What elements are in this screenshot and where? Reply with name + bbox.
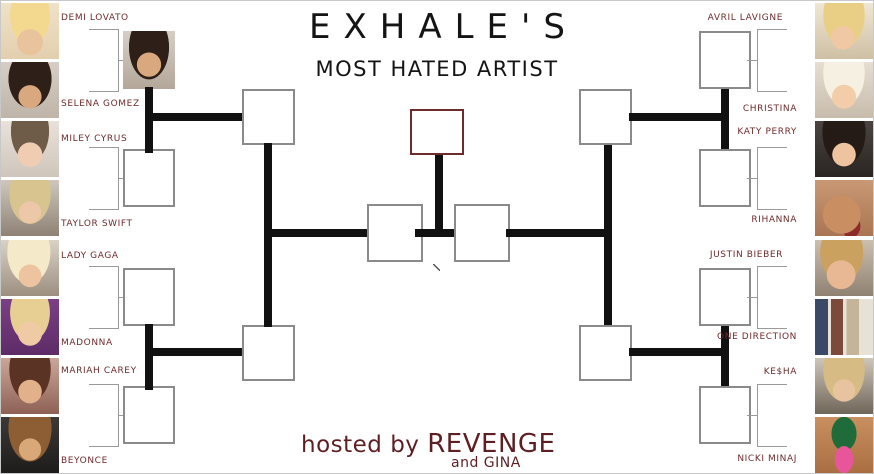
photo-rihanna	[815, 180, 873, 236]
photo-madonna	[1, 299, 59, 355]
r1-connector-right-4	[757, 384, 787, 447]
r3-slot-right-top[interactable]	[579, 89, 632, 145]
label-miley-cyrus: MILEY CYRUS	[61, 134, 127, 144]
r1-connector-right-2	[757, 147, 787, 210]
semifinal-slot-right[interactable]	[454, 204, 510, 262]
champion-slot[interactable]	[410, 109, 464, 155]
label-christina: CHRISTINA	[743, 104, 797, 114]
photo-nicki-minaj	[815, 417, 873, 473]
r2-slot-right-2[interactable]	[699, 149, 751, 207]
r1-connector-left-2	[89, 147, 119, 210]
photo-beyonce	[1, 417, 59, 473]
final-vertical-bar	[435, 149, 443, 234]
r2-r3-horizontal-left-top	[145, 113, 245, 121]
photo-katy-perry	[815, 121, 873, 177]
host-credit: hosted by REVENGE and GINA	[301, 429, 601, 471]
r1-connector-right-1	[757, 29, 787, 92]
label-katy-perry: KATY PERRY	[737, 127, 797, 137]
photo-one-direction	[815, 299, 873, 355]
r2-r3-horizontal-right-bottom	[629, 348, 729, 356]
photo-mariah-carey	[1, 358, 59, 414]
photo-christina-aguilera	[815, 62, 873, 118]
label-madonna: MADONNA	[61, 338, 113, 348]
r2-slot-right-3[interactable]	[699, 268, 751, 326]
label-avril-lavigne: AVRIL LAVIGNE	[708, 13, 783, 23]
r3-slot-right-bottom[interactable]	[579, 325, 632, 381]
r3-semi-horizontal-left	[264, 229, 370, 237]
r2-slot-left-4[interactable]	[123, 386, 175, 444]
r2-r3-vertical-left-bottom	[145, 324, 153, 390]
r1-stub-right-1	[747, 60, 757, 61]
r1-connector-right-3	[757, 266, 787, 329]
label-one-direction: ONE DIRECTION	[717, 332, 797, 342]
label-kesha: KE$HA	[764, 367, 797, 377]
r1-connector-left-4	[89, 384, 119, 447]
photo-avril-lavigne	[815, 3, 873, 59]
r2-r3-horizontal-left-bottom	[145, 348, 245, 356]
r1-connector-left-3	[89, 266, 119, 329]
r1-stub-right-2	[747, 178, 757, 179]
hosted-by-text: hosted by	[301, 432, 427, 458]
label-lady-gaga: LADY GAGA	[61, 251, 119, 261]
r3-slot-left-top[interactable]	[242, 89, 295, 145]
label-mariah-carey: MARIAH CAREY	[61, 366, 137, 376]
r2-slot-left-3[interactable]	[123, 268, 175, 326]
photo-miley-cyrus	[1, 121, 59, 177]
r2-slot-right-4[interactable]	[699, 386, 751, 444]
r2-slot-right-1[interactable]	[699, 31, 751, 89]
photo-justin-bieber	[815, 240, 873, 296]
label-taylor-swift: TAYLOR SWIFT	[61, 219, 133, 229]
r2-r3-vertical-right-top	[721, 87, 729, 153]
r2-slot-left-2[interactable]	[123, 149, 175, 207]
bracket-canvas: EXHALE'S MOST HATED ARTIST DEMI LOVATO S…	[0, 0, 874, 474]
label-rihanna: RIHANNA	[751, 215, 797, 225]
photo-taylor-swift	[1, 180, 59, 236]
r3-semi-vertical-right	[604, 143, 612, 327]
r3-semi-horizontal-right	[506, 229, 612, 237]
r2-slot-left-1[interactable]	[123, 31, 175, 89]
r1-stub-right-4	[747, 415, 757, 416]
r2-r3-horizontal-right-top	[629, 113, 729, 121]
r3-slot-left-bottom[interactable]	[242, 325, 295, 381]
label-nicki-minaj: NICKI MINAJ	[737, 454, 797, 464]
photo-demi-lovato	[1, 3, 59, 59]
label-selena-gomez: SELENA GOMEZ	[61, 99, 140, 109]
photo-kesha	[815, 358, 873, 414]
label-demi-lovato: DEMI LOVATO	[61, 13, 129, 23]
pencil-tick-mark	[433, 264, 440, 271]
r1-connector-left-1	[89, 29, 119, 92]
photo-lady-gaga	[1, 240, 59, 296]
r1-stub-right-3	[747, 297, 757, 298]
label-beyonce: BEYONCE	[61, 456, 108, 466]
photo-selena-gomez	[1, 62, 59, 118]
label-justin-bieber: JUSTIN BIEBER	[710, 250, 783, 260]
